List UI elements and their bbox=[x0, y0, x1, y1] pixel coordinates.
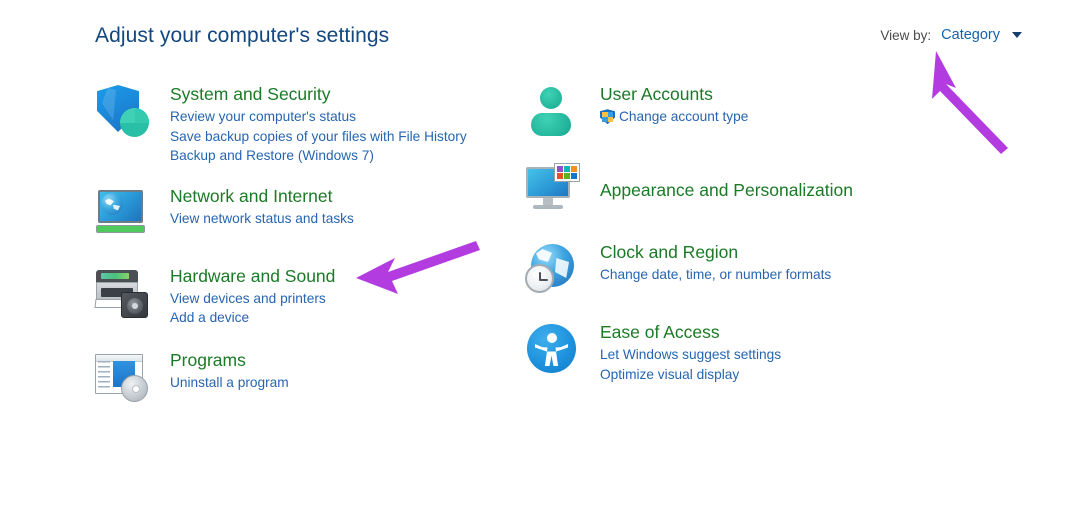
category-hardware-and-sound[interactable]: Hardware and Sound View devices and prin… bbox=[94, 264, 524, 328]
appearance-monitor-icon bbox=[524, 162, 580, 218]
category-body: Ease of Access Let Windows suggest setti… bbox=[600, 320, 781, 384]
category-link[interactable]: View devices and printers bbox=[170, 289, 335, 309]
color-swatch-grid-icon bbox=[554, 163, 580, 182]
category-ease-of-access[interactable]: Ease of Access Let Windows suggest setti… bbox=[524, 320, 954, 384]
category-title[interactable]: Network and Internet bbox=[170, 185, 332, 207]
category-link[interactable]: Add a device bbox=[170, 308, 335, 328]
right-category-column: User Accounts Change account type Appear… bbox=[524, 82, 954, 402]
shield-security-icon bbox=[94, 84, 150, 140]
uac-shield-icon bbox=[600, 109, 615, 124]
category-title[interactable]: Programs bbox=[170, 349, 246, 371]
programs-disc-icon bbox=[94, 350, 150, 406]
category-network-and-internet[interactable]: Network and Internet View network status… bbox=[94, 184, 524, 242]
view-by-value[interactable]: Category bbox=[941, 27, 1000, 43]
category-appearance-and-personalization[interactable]: Appearance and Personalization bbox=[524, 162, 954, 218]
category-link[interactable]: View network status and tasks bbox=[170, 209, 354, 229]
category-body: System and Security Review your computer… bbox=[170, 82, 467, 166]
view-by-label: View by: bbox=[880, 28, 931, 43]
printer-speaker-icon bbox=[94, 266, 150, 322]
user-account-icon bbox=[524, 84, 580, 140]
category-link[interactable]: Change date, time, or number formats bbox=[600, 265, 831, 285]
category-body: Clock and Region Change date, time, or n… bbox=[600, 240, 831, 285]
category-user-accounts[interactable]: User Accounts Change account type bbox=[524, 82, 954, 140]
category-title[interactable]: System and Security bbox=[170, 83, 330, 105]
category-link-label: Change account type bbox=[619, 107, 748, 127]
category-title[interactable]: Hardware and Sound bbox=[170, 265, 335, 287]
view-by-control: View by: Category bbox=[880, 27, 1022, 43]
ease-of-access-icon bbox=[524, 322, 580, 378]
category-title[interactable]: Ease of Access bbox=[600, 321, 720, 343]
category-link[interactable]: Uninstall a program bbox=[170, 373, 289, 393]
category-body: Appearance and Personalization bbox=[600, 178, 853, 203]
category-programs[interactable]: Programs Uninstall a program bbox=[94, 348, 524, 406]
category-body: Programs Uninstall a program bbox=[170, 348, 289, 393]
category-link[interactable]: Let Windows suggest settings bbox=[600, 345, 781, 365]
category-body: User Accounts Change account type bbox=[600, 82, 748, 127]
category-link[interactable]: Change account type bbox=[600, 107, 748, 127]
category-title[interactable]: Appearance and Personalization bbox=[600, 179, 853, 201]
category-link[interactable]: Backup and Restore (Windows 7) bbox=[170, 146, 467, 166]
category-body: Network and Internet View network status… bbox=[170, 184, 354, 229]
category-title[interactable]: User Accounts bbox=[600, 83, 713, 105]
category-title[interactable]: Clock and Region bbox=[600, 241, 738, 263]
category-link[interactable]: Optimize visual display bbox=[600, 365, 781, 385]
category-system-and-security[interactable]: System and Security Review your computer… bbox=[94, 82, 524, 166]
network-monitor-icon bbox=[94, 186, 150, 242]
left-category-column: System and Security Review your computer… bbox=[94, 82, 524, 424]
category-clock-and-region[interactable]: Clock and Region Change date, time, or n… bbox=[524, 240, 954, 298]
category-body: Hardware and Sound View devices and prin… bbox=[170, 264, 335, 328]
clock-globe-icon bbox=[524, 242, 580, 298]
category-link[interactable]: Save backup copies of your files with Fi… bbox=[170, 127, 467, 147]
control-panel-page: Adjust your computer's settings View by:… bbox=[0, 0, 1092, 520]
category-link[interactable]: Review your computer's status bbox=[170, 107, 467, 127]
page-title: Adjust your computer's settings bbox=[95, 24, 389, 48]
chevron-down-icon[interactable] bbox=[1012, 32, 1022, 38]
